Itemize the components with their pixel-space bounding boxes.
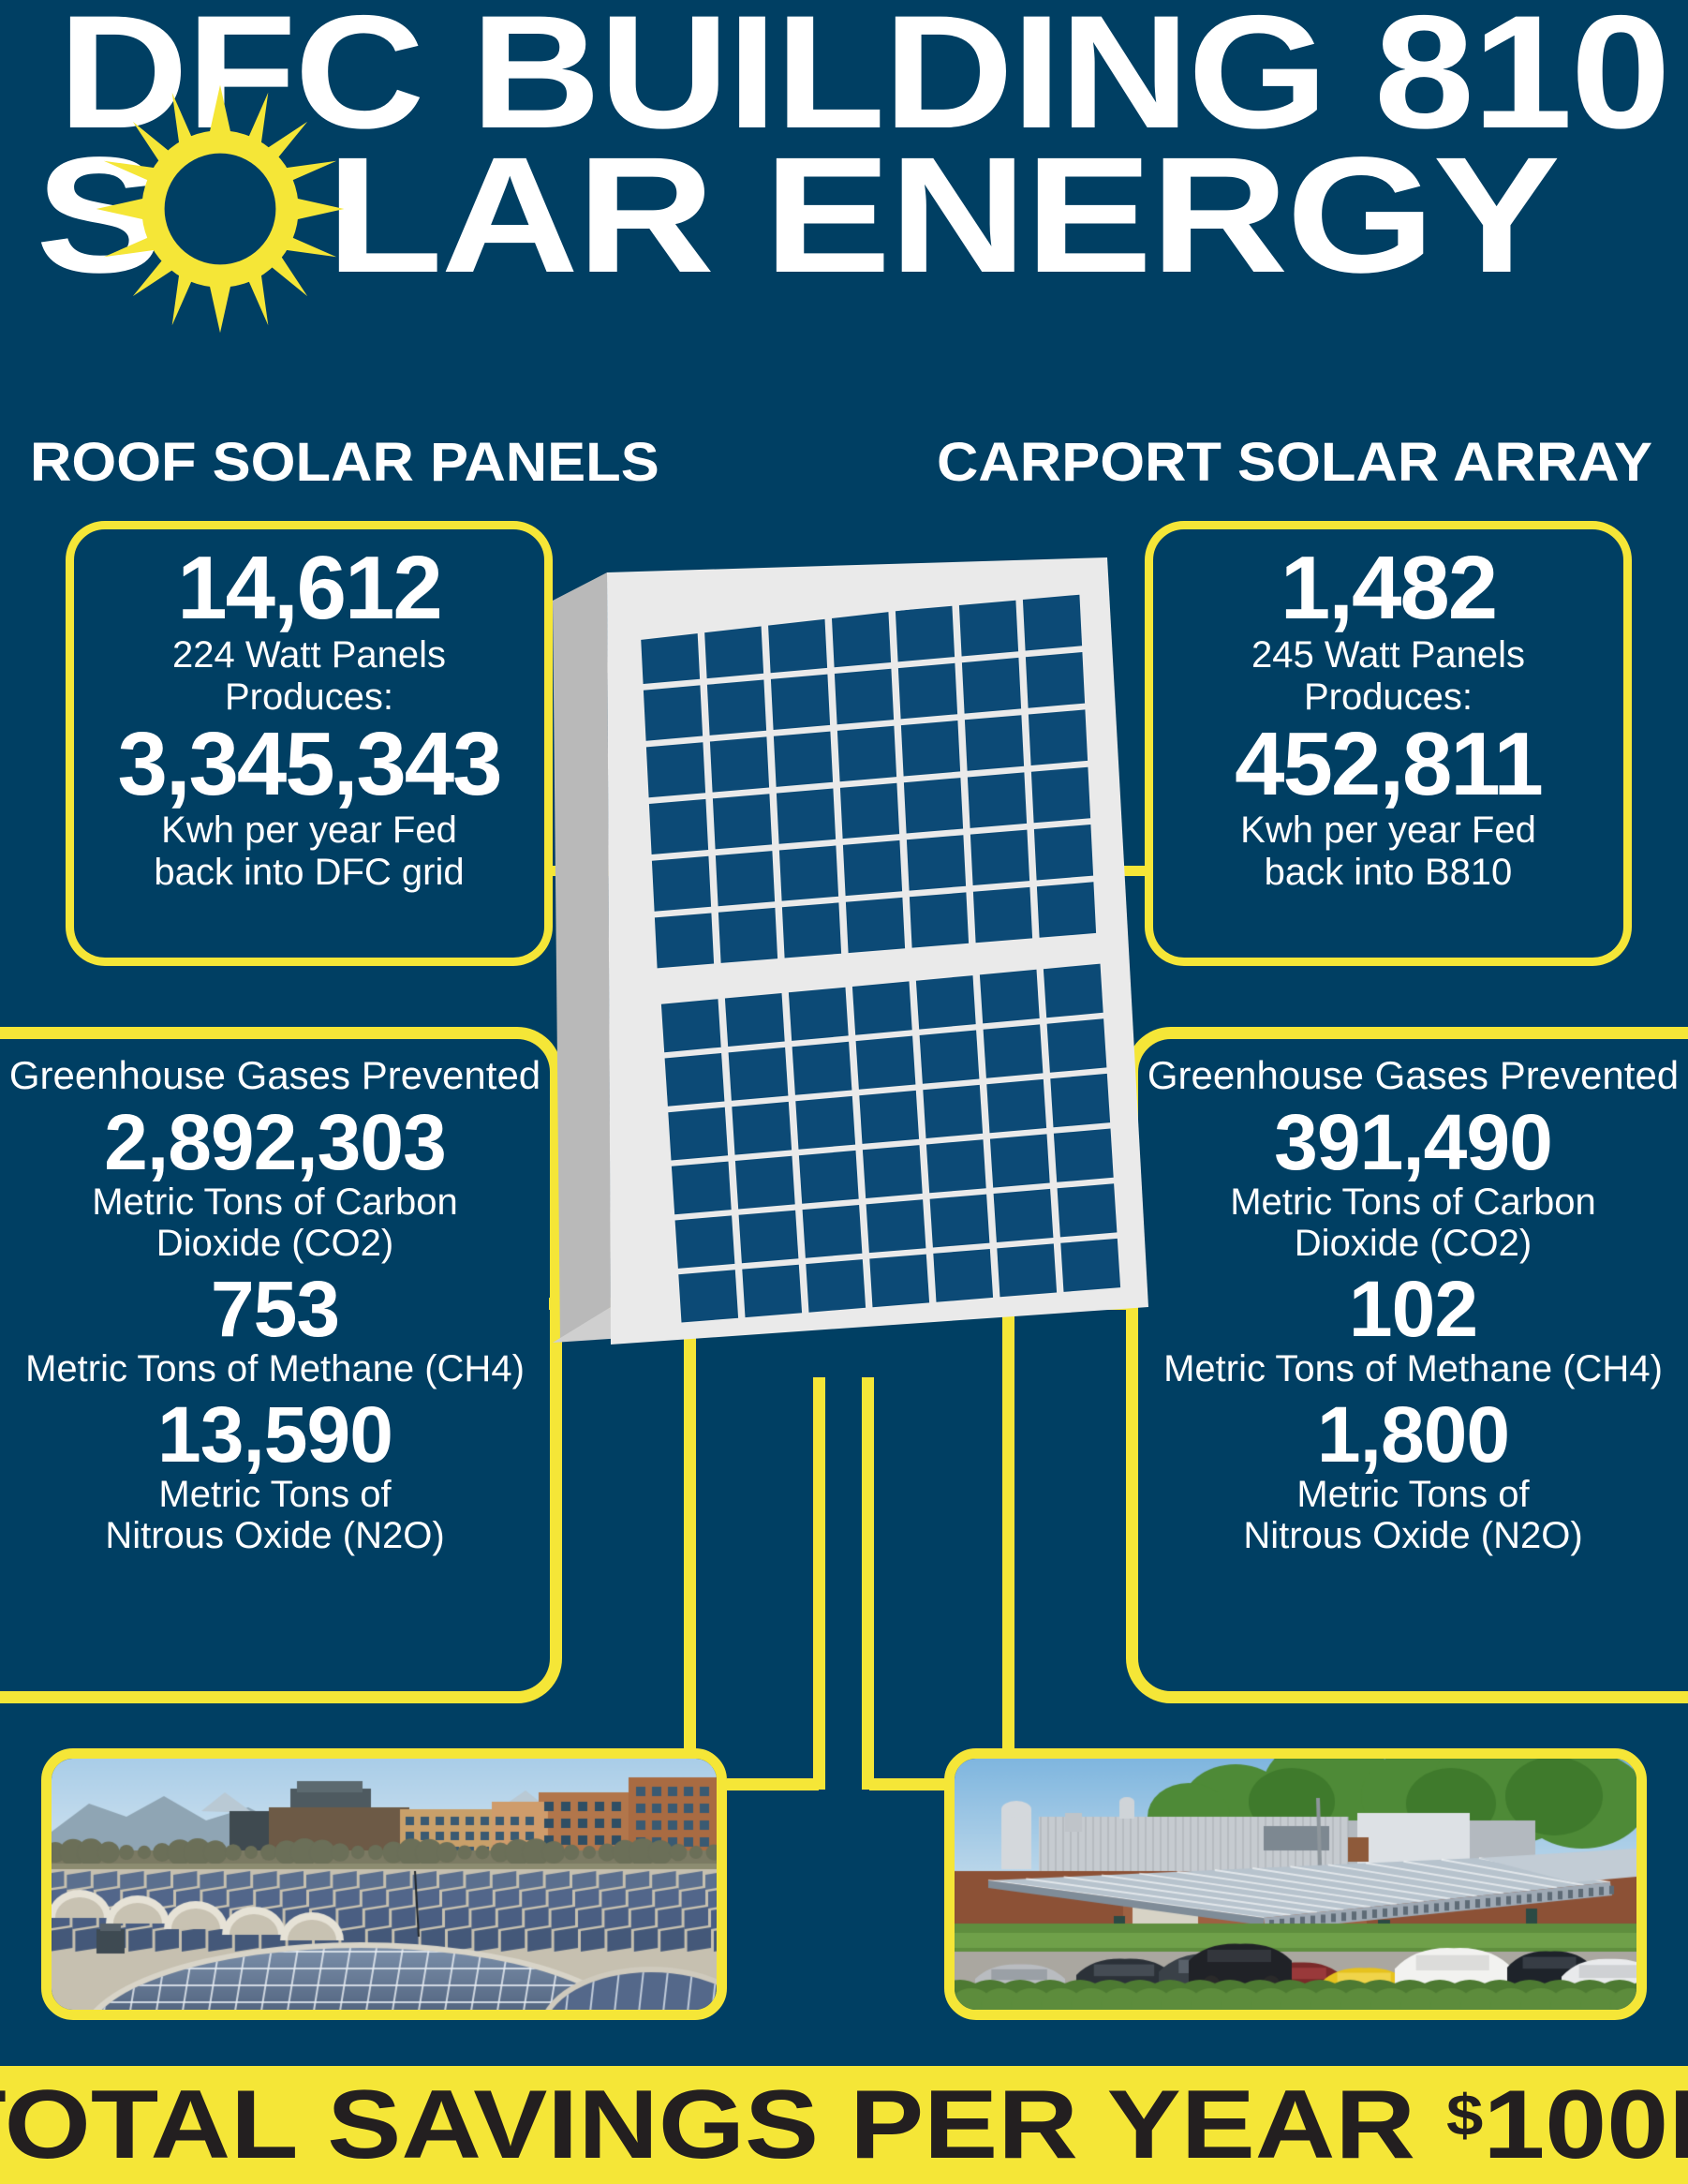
carport-output-value: 452,811 xyxy=(1153,719,1623,810)
carport-output-desc-line1: Kwh per year Fed xyxy=(1153,810,1623,852)
carport-ghg-title: Greenhouse Gases Prevented xyxy=(1144,1054,1682,1097)
title-s-letter: S xyxy=(36,124,161,307)
roof-panel-desc-line1: 224 Watt Panels xyxy=(74,634,544,676)
roof-output-desc-line1: Kwh per year Fed xyxy=(74,810,544,852)
roof-output-desc-line2: back into DFC grid xyxy=(74,852,544,894)
carport-ghg-co2-value: 391,490 xyxy=(1144,1103,1682,1181)
greenhouse-box-carport[interactable]: Greenhouse Gases Prevented 391,490 Metri… xyxy=(1126,1027,1688,1703)
carport-ghg-ch4-label1: Metric Tons of Methane (CH4) xyxy=(1144,1348,1682,1389)
banner-amount: 100K xyxy=(1484,2071,1688,2179)
connector-left-photo-drop xyxy=(813,1377,825,1790)
connector-right-photo-join xyxy=(869,1778,950,1790)
roof-panel-desc-line2: Produces: xyxy=(74,676,544,719)
connector-right-photo-drop xyxy=(862,1377,874,1790)
connector-left-photo-join xyxy=(727,1778,819,1790)
total-savings-banner: TOTAL SAVINGS PER YEAR $100K xyxy=(0,2066,1688,2184)
carport-ghg-co2-label2: Dioxide (CO2) xyxy=(1144,1223,1682,1264)
carport-panel-desc-line2: Produces: xyxy=(1153,676,1623,719)
banner-label: TOTAL SAVINGS PER YEAR xyxy=(0,2071,1446,2179)
roof-output-value: 3,345,343 xyxy=(74,719,544,810)
carport-panel-count: 1,482 xyxy=(1153,542,1623,634)
title-block: DFC BUILDING 810 SLAR ENERGY xyxy=(0,0,1688,403)
photo-rooftop-solar-array xyxy=(41,1748,727,2020)
carport-ghg-n2o-label1: Metric Tons of xyxy=(1144,1474,1682,1515)
roof-panel-count: 14,612 xyxy=(74,542,544,634)
dollar-sign: $ xyxy=(1446,2084,1483,2148)
carport-photo-canvas xyxy=(955,1759,1636,2010)
heading-roof-solar-panels: ROOF SOLAR PANELS xyxy=(30,431,659,494)
rooftop-photo-canvas xyxy=(52,1759,717,2010)
greenhouse-box-roof[interactable]: Greenhouse Gases Prevented 2,892,303 Met… xyxy=(0,1027,562,1703)
carport-ghg-ch4-value: 102 xyxy=(1144,1270,1682,1348)
title-olar-energy: LAR ENERGY xyxy=(326,124,1558,307)
carport-ghg-n2o-label2: Nitrous Oxide (N2O) xyxy=(1144,1515,1682,1556)
carport-panel-desc-line1: 245 Watt Panels xyxy=(1153,634,1623,676)
roof-ghg-n2o-label1: Metric Tons of xyxy=(6,1474,544,1515)
roof-ghg-n2o-label2: Nitrous Oxide (N2O) xyxy=(6,1515,544,1556)
photo-carport-solar-array xyxy=(944,1748,1647,2020)
carport-ghg-n2o-value: 1,800 xyxy=(1144,1395,1682,1474)
page-title-line-2: SLAR ENERGY xyxy=(36,141,1348,319)
production-box-carport[interactable]: 1,482 245 Watt Panels Produces: 452,811 … xyxy=(1145,521,1632,966)
roof-ghg-title: Greenhouse Gases Prevented xyxy=(6,1054,544,1097)
roof-ghg-co2-label2: Dioxide (CO2) xyxy=(6,1223,544,1264)
carport-output-desc-line2: back into B810 xyxy=(1153,852,1623,894)
solar-panel-illustration xyxy=(525,557,1180,1382)
roof-ghg-co2-value: 2,892,303 xyxy=(6,1103,544,1181)
carport-ghg-co2-label1: Metric Tons of Carbon xyxy=(1144,1181,1682,1223)
production-box-roof[interactable]: 14,612 224 Watt Panels Produces: 3,345,3… xyxy=(66,521,553,966)
roof-ghg-ch4-value: 753 xyxy=(6,1270,544,1348)
roof-ghg-ch4-label1: Metric Tons of Methane (CH4) xyxy=(6,1348,544,1389)
heading-carport-solar-array: CARPORT SOLAR ARRAY xyxy=(937,431,1652,494)
roof-ghg-co2-label1: Metric Tons of Carbon xyxy=(6,1181,544,1223)
roof-ghg-n2o-value: 13,590 xyxy=(6,1395,544,1474)
